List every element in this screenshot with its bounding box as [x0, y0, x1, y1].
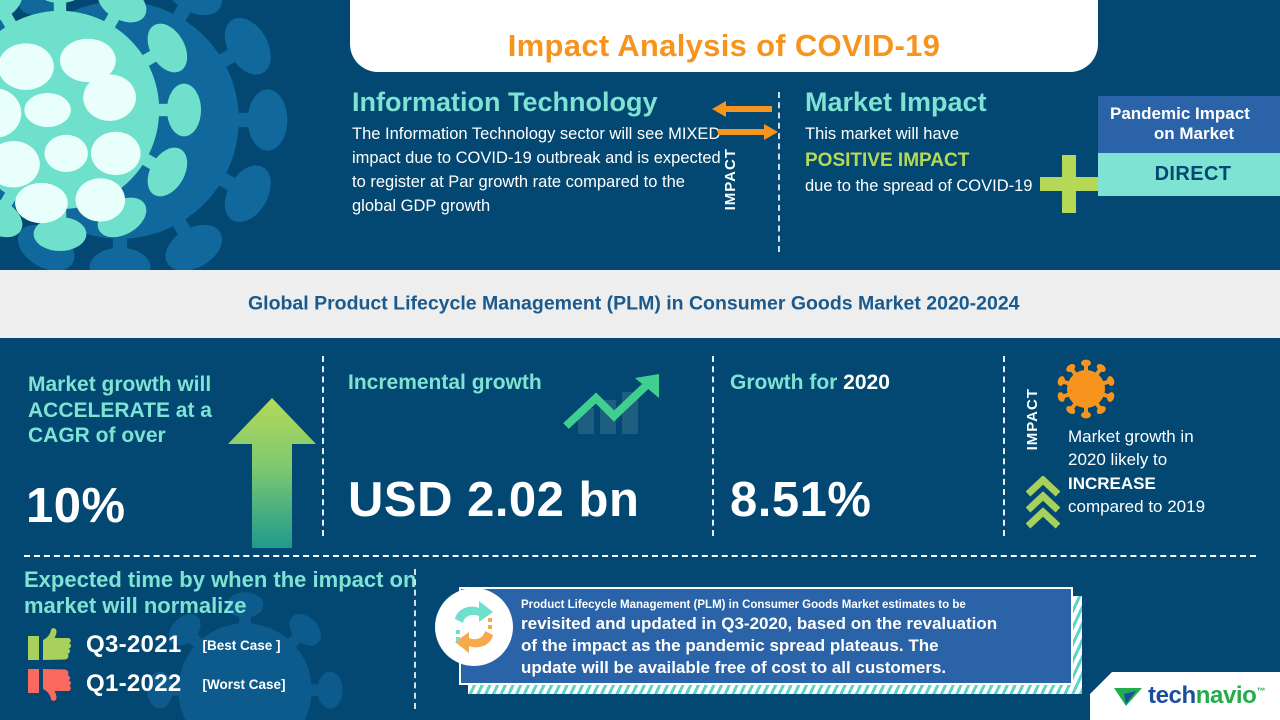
best-case-quarter: Q3-2021 — [86, 631, 182, 659]
metric-1-label: Market growth will ACCELERATE at a CAGR … — [28, 372, 243, 449]
worst-case-tag: [Worst Case] — [203, 677, 286, 692]
metrics-divider-3 — [1003, 356, 1005, 536]
market-impact-body-after: due to the spread of COVID-19 — [805, 177, 1032, 195]
callout-wrapper: Product Lifecycle Management (PLM) in Co… — [459, 587, 1073, 685]
technavio-mark-icon — [1114, 685, 1142, 707]
it-body: The Information Technology sector will s… — [352, 123, 722, 219]
logo-wordmark: technavio™ — [1148, 682, 1265, 710]
metric-3-value: 8.51% — [730, 472, 871, 528]
report-subtitle: Global Product Lifecycle Management (PLM… — [248, 293, 1020, 316]
logo-trademark: ™ — [1256, 686, 1265, 696]
callout-line-2: of the impact as the pandemic spread pla… — [521, 636, 939, 655]
callout-line-1: revisited and updated in Q3-2020, based … — [521, 614, 997, 633]
vertical-divider-top — [778, 92, 780, 252]
bidirectional-arrow-icon — [710, 100, 780, 142]
worst-case-row: Q1-2022 [Worst Case] — [28, 667, 286, 701]
impact-line-1: Market growth in — [1068, 427, 1194, 446]
subtitle-band: Global Product Lifecycle Management (PLM… — [0, 270, 1280, 338]
impact-label-right: IMPACT — [1024, 388, 1041, 450]
best-case-tag: [Best Case ] — [203, 638, 281, 653]
metric-3-label-white: 2020 — [843, 371, 890, 394]
impact-line-3: compared to 2019 — [1068, 497, 1205, 516]
page-title: Impact Analysis of COVID-19 — [508, 28, 940, 64]
logo-part-1: tech — [1148, 682, 1196, 709]
refresh-cycle-icon — [433, 586, 515, 668]
impact-panel-text: Market growth in 2020 likely to INCREASE… — [1068, 425, 1268, 519]
title-banner: Impact Analysis of COVID-19 — [350, 0, 1098, 72]
metric-1-value: 10% — [26, 478, 126, 534]
up-chevrons-icon — [1026, 476, 1060, 532]
metric-2-label: Incremental growth — [348, 370, 558, 396]
best-case-row: Q3-2021 [Best Case ] — [28, 628, 281, 662]
metrics-divider-1 — [322, 356, 324, 536]
market-impact-highlight: POSITIVE IMPACT — [805, 150, 969, 171]
technavio-logo: technavio™ — [1090, 672, 1280, 720]
callout-box: Product Lifecycle Management (PLM) in Co… — [459, 587, 1073, 685]
metric-2-value: USD 2.02 bn — [348, 472, 639, 528]
market-impact-heading: Market Impact — [805, 88, 1095, 117]
plus-icon — [1040, 155, 1098, 213]
infographic-page: Impact Analysis of COVID-19 Information … — [0, 0, 1280, 720]
virus-orange-icon — [1055, 358, 1117, 420]
metric-3-label-teal: Growth for — [730, 371, 843, 394]
virus-illustration-front — [0, 0, 215, 265]
pandemic-impact-value: DIRECT — [1098, 153, 1280, 196]
it-heading: Information Technology — [352, 88, 722, 117]
horizontal-dashed-divider — [24, 555, 1256, 557]
growth-trend-icon — [560, 372, 666, 438]
pandemic-impact-panel: Pandemic Impact on Market DIRECT — [1098, 96, 1280, 196]
logo-part-2: navio — [1196, 682, 1257, 709]
top-section: Impact Analysis of COVID-19 Information … — [0, 0, 1280, 270]
impact-line-2: 2020 likely to — [1068, 450, 1167, 469]
pandemic-panel-header: Pandemic Impact on Market — [1098, 96, 1280, 153]
normalize-title: Expected time by when the impact on mark… — [24, 567, 434, 620]
up-arrow-icon — [228, 398, 316, 548]
information-technology-block: Information Technology The Information T… — [352, 88, 722, 219]
thumbs-up-icon — [28, 628, 72, 662]
metrics-divider-2 — [712, 356, 714, 536]
logo-corner-accent — [1089, 671, 1113, 695]
vertical-divider-bottom — [414, 569, 416, 709]
thumbs-down-icon — [28, 667, 72, 701]
bottom-section: Expected time by when the impact on mark… — [0, 555, 1280, 720]
callout-small-text: Product Lifecycle Management (PLM) in Co… — [521, 598, 1057, 613]
worst-case-quarter: Q1-2022 — [86, 670, 182, 698]
impact-emphasis: INCREASE — [1068, 474, 1156, 493]
callout-line-3: update will be available free of cost to… — [521, 658, 946, 677]
metric-3-label: Growth for 2020 — [730, 370, 890, 396]
pandemic-header-line2: on Market — [1110, 124, 1278, 144]
impact-divider-label-top: IMPACT — [722, 148, 739, 210]
market-impact-body-before: This market will have — [805, 125, 959, 143]
pandemic-header-line1: Pandemic Impact — [1110, 104, 1250, 123]
